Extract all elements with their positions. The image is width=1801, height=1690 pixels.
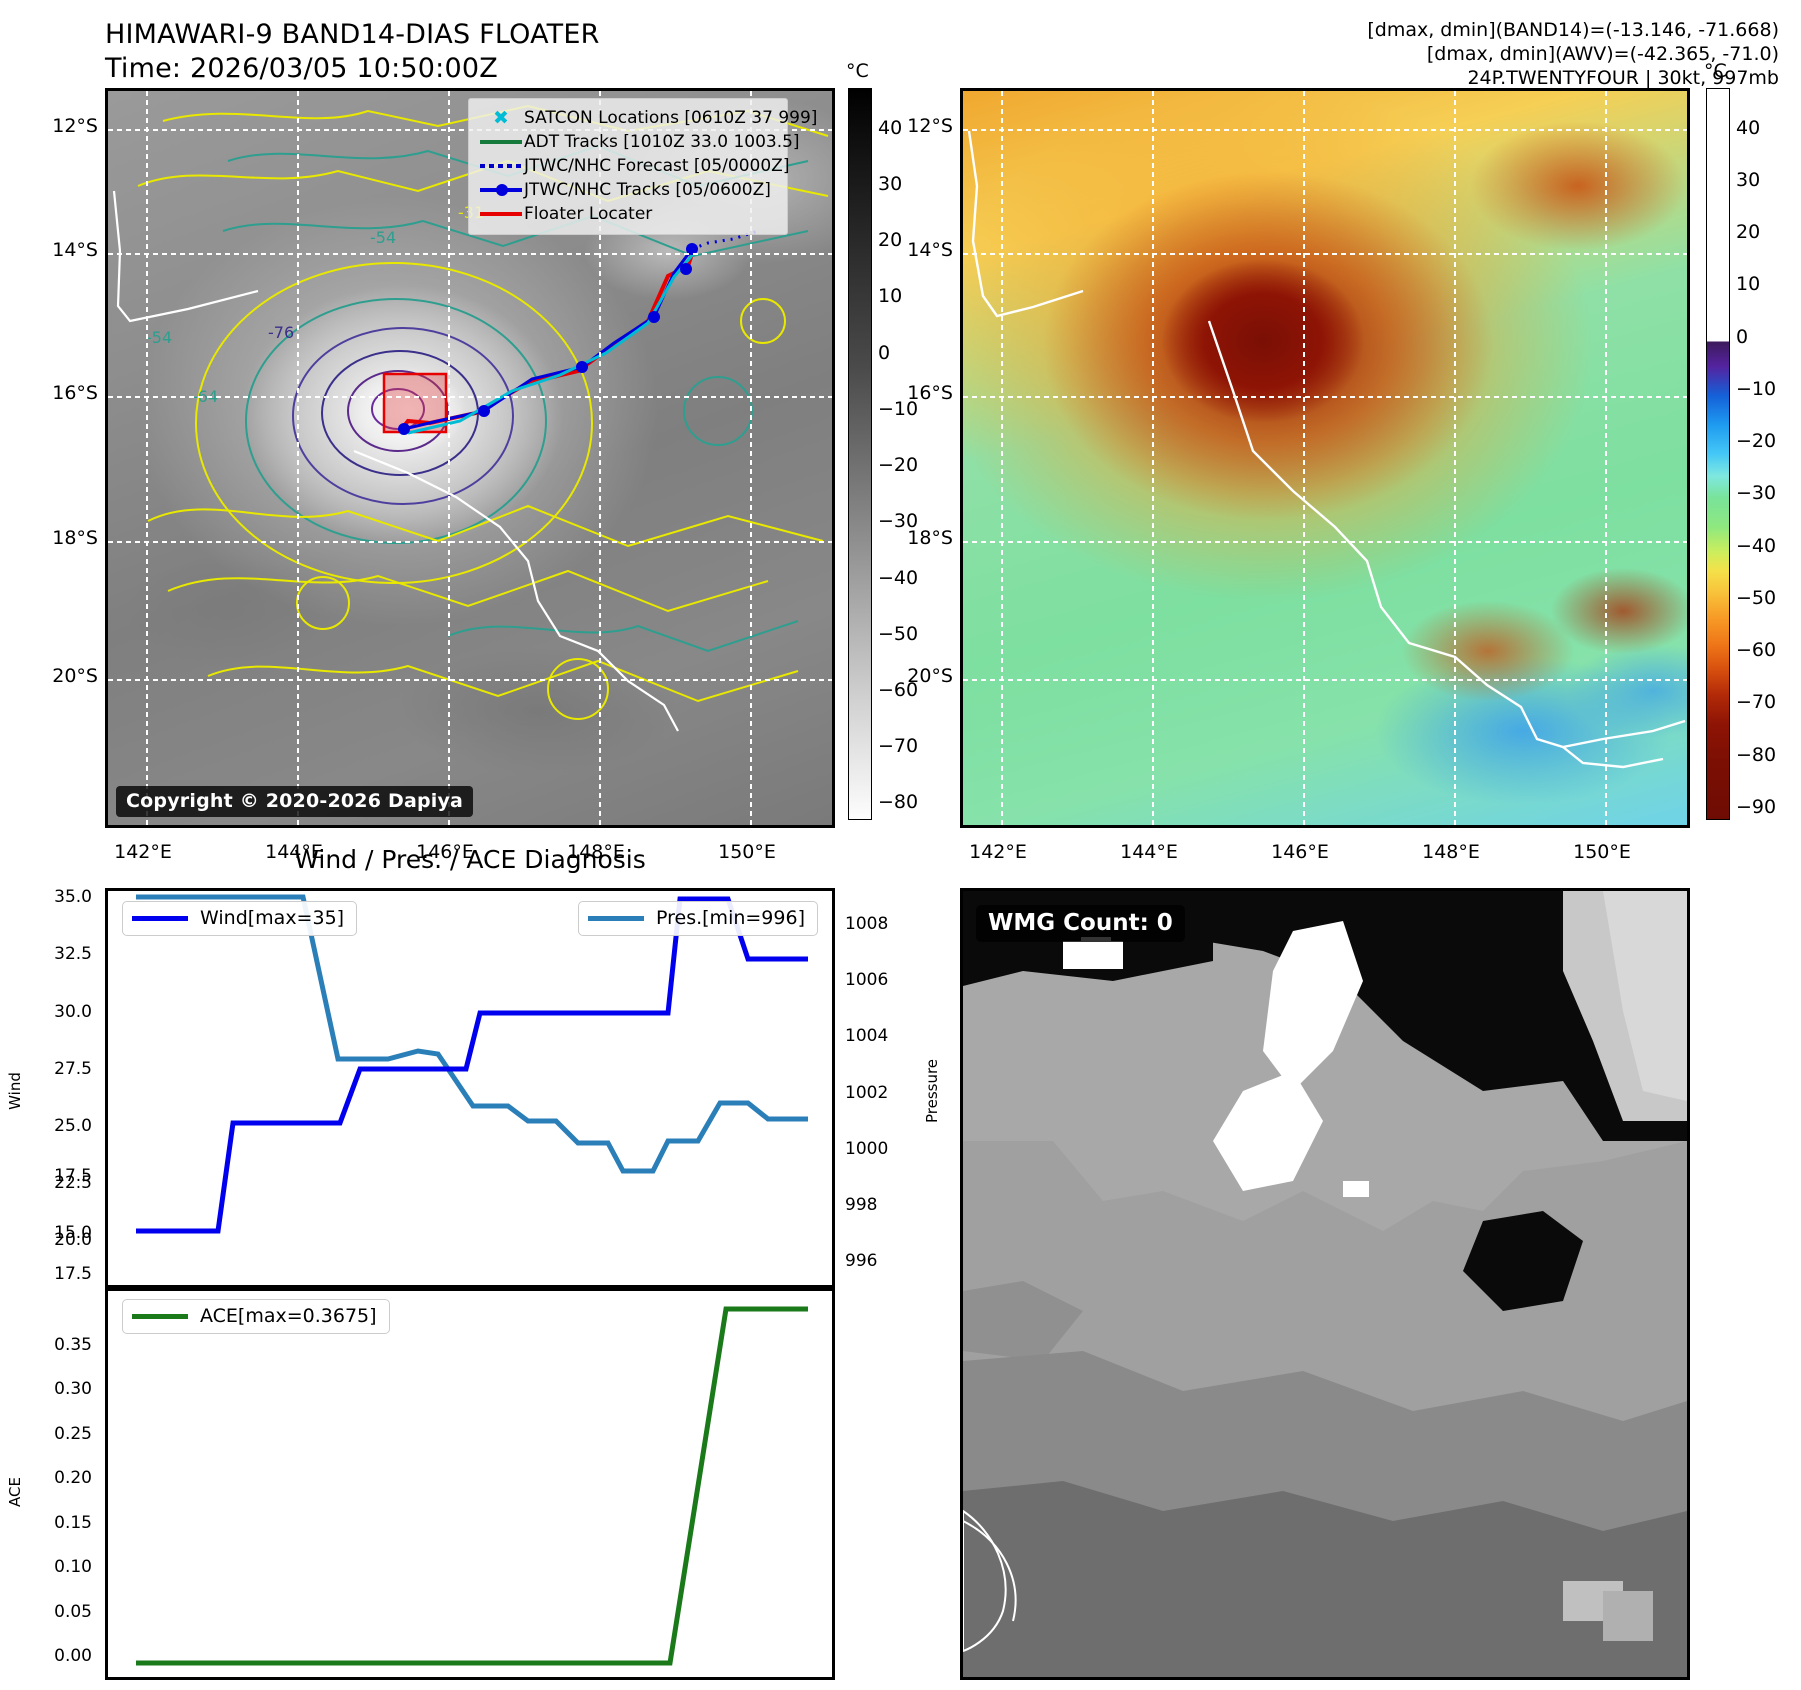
y-tick: 17.5 [20, 1166, 92, 1186]
cb-tick: −90 [1736, 796, 1776, 818]
wind-legend-label: Wind[max=35] [200, 907, 344, 929]
graticule-line [146, 91, 148, 825]
ace-y-ticks: 0.35 0.30 0.25 0.20 0.15 0.10 0.05 0.00 [20, 1288, 102, 1680]
wind-legend[interactable]: Wind[max=35] [122, 901, 357, 936]
graticule-line [108, 253, 832, 255]
legend-label: JTWC/NHC Forecast [05/0000Z] [524, 156, 789, 176]
dmax-band14-text: [dmax, dmin](BAND14)=(-13.146, -71.668) [1367, 18, 1779, 42]
graticule-line [1605, 91, 1607, 825]
copyright-badge: Copyright © 2020-2026 Dapiya [116, 786, 473, 817]
cb-tick: 0 [1736, 326, 1748, 348]
y-tick: 0.05 [20, 1602, 92, 1622]
y-tick: 0.15 [20, 1513, 92, 1533]
graticule-line [108, 541, 832, 543]
title-line: HIMAWARI-9 BAND14-DIAS FLOATER [105, 18, 600, 52]
cb-tick: −50 [878, 623, 918, 645]
legend-item-floater: Floater Locater [478, 202, 778, 226]
lon-tick-label: 142°E [969, 841, 1027, 863]
diagnosis-title: Wind / Pres. / ACE Diagnosis [105, 845, 835, 874]
y-tick: 0.30 [20, 1379, 92, 1399]
wind-legend-line [132, 916, 188, 921]
awv-colorbar-unit: °C [1704, 60, 1727, 82]
graticule-line [1152, 91, 1154, 825]
satcon-x-icon: ✖ [478, 109, 524, 128]
lat-tick-label: 16°S [885, 382, 953, 404]
graticule-line [108, 396, 832, 398]
graticule-line [448, 91, 450, 825]
cb-tick: −50 [1736, 587, 1776, 609]
graticule-line [963, 541, 1687, 543]
cb-tick: −40 [878, 567, 918, 589]
wmg-count-badge: WMG Count: 0 [976, 905, 1185, 942]
graticule-line [1001, 91, 1003, 825]
cb-tick: −60 [1736, 639, 1776, 661]
y-tick: 30.0 [20, 1002, 92, 1022]
y-tick: 0.10 [20, 1557, 92, 1577]
legend-item-forecast: JTWC/NHC Forecast [05/0000Z] [478, 154, 778, 178]
ir-colorbar-unit: °C [846, 60, 869, 82]
awv-coastlines [963, 91, 1687, 825]
page-title: HIMAWARI-9 BAND14-DIAS FLOATER Time: 202… [105, 18, 600, 86]
graticule-line [1454, 91, 1456, 825]
y-tick: 17.5 [20, 1264, 92, 1284]
ir-panel-legend[interactable]: ✖ SATCON Locations [0610Z 37 999] ADT Tr… [468, 98, 788, 235]
graticule-line [963, 679, 1687, 681]
lon-tick-label: 146°E [1271, 841, 1329, 863]
wmg-imagery [963, 891, 1687, 1677]
ace-legend-label: ACE[max=0.3675] [200, 1305, 377, 1327]
cb-tick: −40 [1736, 535, 1776, 557]
y-tick: 0.25 [20, 1424, 92, 1444]
lat-tick-label: 12°S [30, 115, 98, 137]
cb-tick: −70 [1736, 691, 1776, 713]
y-tick: 0.20 [20, 1468, 92, 1488]
y2-tick: 996 [845, 1251, 923, 1271]
cb-tick: −80 [1736, 744, 1776, 766]
legend-item-tracks: JTWC/NHC Tracks [05/0600Z] [478, 178, 778, 202]
lon-tick-label: 150°E [1573, 841, 1631, 863]
graticule-line [963, 129, 1687, 131]
lon-tick-label: 148°E [1422, 841, 1480, 863]
y-tick: 32.5 [20, 944, 92, 964]
svg-text:-76: -76 [268, 323, 294, 342]
cb-tick: −80 [878, 791, 918, 813]
lat-tick-label: 18°S [885, 527, 953, 549]
pressure-y-ticks: 1008 1006 1004 1002 1000 998 996 [845, 888, 935, 1288]
cb-tick: 0 [878, 342, 890, 364]
ace-legend[interactable]: ACE[max=0.3675] [122, 1299, 390, 1334]
tracks-marker-icon [478, 188, 524, 192]
cb-tick: 20 [1736, 221, 1760, 243]
forecast-dotted-icon [478, 164, 524, 168]
lon-tick-label: 144°E [1120, 841, 1178, 863]
svg-text:-54: -54 [146, 328, 172, 347]
y-tick: 15.0 [20, 1223, 92, 1243]
legend-item-adt: ADT Tracks [1010Z 33.0 1003.5] [478, 130, 778, 154]
y2-tick: 1004 [845, 1026, 923, 1046]
y2-tick: 1002 [845, 1083, 923, 1103]
pressure-legend-label: Pres.[min=996] [656, 907, 805, 929]
cb-tick: −70 [878, 735, 918, 757]
ir-floater-panel[interactable]: -54 -54 -76 -64 -31 ✖ SATCON Locations [… [105, 88, 835, 828]
lat-tick-label: 18°S [30, 527, 98, 549]
adt-line-icon [478, 140, 524, 144]
y2-tick: 998 [845, 1195, 923, 1215]
graticule-line [108, 679, 832, 681]
cb-tick: −20 [1736, 430, 1776, 452]
pressure-legend[interactable]: Pres.[min=996] [578, 901, 818, 936]
graticule-line [963, 253, 1687, 255]
cb-tick: −30 [1736, 482, 1776, 504]
lat-tick-label: 16°S [30, 382, 98, 404]
wind-pressure-chart[interactable]: Wind[max=35] Pres.[min=996] [105, 888, 835, 1288]
cb-tick: 10 [878, 285, 902, 307]
legend-label: Floater Locater [524, 204, 652, 224]
lat-tick-label: 20°S [30, 665, 98, 687]
graticule-line [297, 91, 299, 825]
lat-tick-label: 20°S [885, 665, 953, 687]
graticule-line [963, 396, 1687, 398]
lat-tick-label: 14°S [30, 239, 98, 261]
cb-tick: −20 [878, 454, 918, 476]
legend-label: ADT Tracks [1010Z 33.0 1003.5] [524, 132, 800, 152]
ir-colorbar-ticks: 40 30 20 10 0 −10 −20 −30 −40 −50 −60 −7… [848, 88, 918, 820]
lat-tick-label: 12°S [885, 115, 953, 137]
ace-plot [108, 1291, 832, 1677]
wind-pressure-plot [108, 891, 832, 1285]
y2-tick: 1008 [845, 914, 923, 934]
y-tick: 0.00 [20, 1646, 92, 1666]
ace-chart[interactable]: ACE[max=0.3675] [105, 1288, 835, 1680]
floater-line-icon [478, 212, 524, 216]
awv-panel[interactable] [960, 88, 1690, 828]
cb-tick: −10 [1736, 378, 1776, 400]
legend-label: JTWC/NHC Tracks [05/0600Z] [524, 180, 771, 200]
graticule-line [1303, 91, 1305, 825]
ace-legend-line [132, 1314, 188, 1319]
cb-tick: 10 [1736, 273, 1760, 295]
y-tick: 35.0 [20, 887, 92, 907]
legend-item-satcon: ✖ SATCON Locations [0610Z 37 999] [478, 106, 778, 130]
lat-tick-label: 14°S [885, 239, 953, 261]
wmg-panel[interactable]: WMG Count: 0 [960, 888, 1690, 1680]
pressure-legend-line [588, 916, 644, 921]
awv-colorbar-ticks: 40 30 20 10 0 −10 −20 −30 −40 −50 −60 −7… [1706, 88, 1786, 820]
svg-text:-54: -54 [370, 228, 396, 247]
cb-tick: 40 [1736, 117, 1760, 139]
cb-tick: 30 [878, 173, 902, 195]
time-line: Time: 2026/03/05 10:50:00Z [105, 52, 600, 86]
legend-label: SATCON Locations [0610Z 37 999] [524, 108, 817, 128]
y2-tick: 1000 [845, 1139, 923, 1159]
y2-tick: 1006 [845, 970, 923, 990]
y-tick: 25.0 [20, 1116, 92, 1136]
y-tick: 27.5 [20, 1059, 92, 1079]
cb-tick: 30 [1736, 169, 1760, 191]
y-tick: 0.35 [20, 1335, 92, 1355]
